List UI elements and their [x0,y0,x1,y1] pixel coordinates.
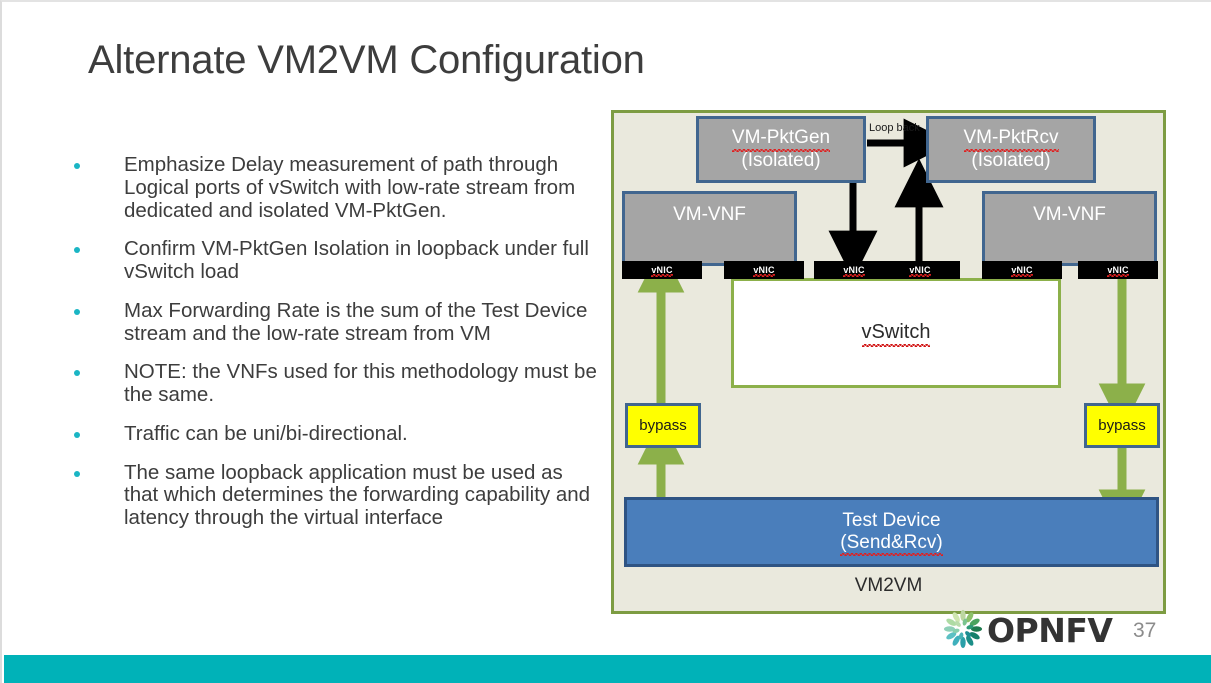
test-device-line1: Test Device [842,510,940,532]
vm-pktgen-box: VM-PktGen (Isolated) [696,116,866,183]
opnfv-logo: OPNFV [943,608,1118,652]
vm-pktrcv-line1: VM-PktRcv [964,127,1059,149]
test-device-line2: (Send&Rcv) [840,532,942,554]
vm-vnf-left-label: VM-VNF [673,204,746,226]
page-number: 37 [1133,619,1156,643]
page-title: Alternate VM2VM Configuration [88,38,808,83]
vswitch-box: vSwitch [731,278,1061,388]
bullet-dot-icon [74,247,80,253]
vm2vm-diagram: vSwitch VM-PktGen (Isolated) VM-PktRcv (… [611,110,1166,614]
list-item: Confirm VM-PktGen Isolation in loopback … [62,238,602,284]
vnic-box: vNIC [622,261,702,279]
vnic-label: vNIC [753,265,774,276]
bullet-text: Traffic can be uni/bi-directional. [124,422,408,445]
opnfv-wordmark: OPNFV [987,611,1113,650]
vm-vnf-left-box: VM-VNF [622,191,797,266]
bullet-dot-icon [74,471,80,477]
list-item: Max Forwarding Rate is the sum of the Te… [62,300,602,346]
vm-pktrcv-line2: (Isolated) [971,150,1050,172]
vnic-label: vNIC [651,265,672,276]
bullet-dot-icon [74,370,80,376]
vnic-label: vNIC [909,265,930,276]
vnic-box: vNIC [982,261,1062,279]
bypass-left-box: bypass [625,403,701,448]
list-item: The same loopback application must be us… [62,462,602,530]
bullet-text: Emphasize Delay measurement of path thro… [124,153,575,222]
opnfv-petal-icon [944,610,982,648]
bullet-text: Confirm VM-PktGen Isolation in loopback … [124,237,589,283]
loopback-label: Loop back [869,122,920,134]
slide: Alternate VM2VM Configuration Emphasize … [0,0,1211,683]
vswitch-label: vSwitch [862,321,931,345]
vnic-box: vNIC [1078,261,1158,279]
bullet-text: NOTE: the VNFs used for this methodology… [124,360,597,406]
vnic-label: vNIC [1011,265,1032,276]
vnic-label: vNIC [1107,265,1128,276]
bullet-dot-icon [74,432,80,438]
vnic-box: vNIC [724,261,804,279]
bypass-right-label: bypass [1098,417,1146,435]
list-item: Emphasize Delay measurement of path thro… [62,154,602,222]
footer-accent-bar [4,655,1211,683]
vm-pktrcv-box: VM-PktRcv (Isolated) [926,116,1096,183]
bypass-left-label: bypass [639,417,687,435]
test-device-box: Test Device (Send&Rcv) [624,497,1159,567]
vnic-box: vNIC [880,261,960,279]
diagram-frame-label: VM2VM [614,575,1163,597]
bullet-text: Max Forwarding Rate is the sum of the Te… [124,299,587,345]
vm-vnf-right-label: VM-VNF [1033,204,1106,226]
bullet-dot-icon [74,309,80,315]
bullet-text: The same loopback application must be us… [124,461,590,530]
vm-pktgen-line2: (Isolated) [741,150,820,172]
list-item: NOTE: the VNFs used for this methodology… [62,361,602,407]
vnic-label: vNIC [843,265,864,276]
list-item: Traffic can be uni/bi-directional. [62,423,602,446]
vm-vnf-right-box: VM-VNF [982,191,1157,266]
bullet-dot-icon [74,163,80,169]
vm-pktgen-line1: VM-PktGen [732,127,830,149]
bypass-right-box: bypass [1084,403,1160,448]
bullet-list: Emphasize Delay measurement of path thro… [62,154,602,546]
